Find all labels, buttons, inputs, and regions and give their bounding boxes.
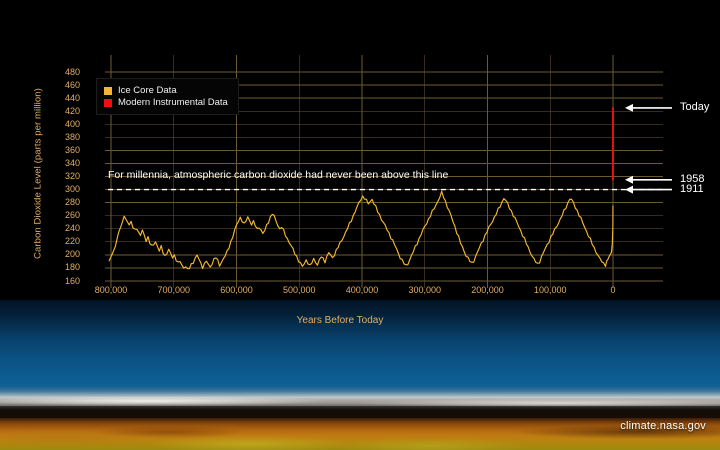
x-tick-0: 0 bbox=[610, 286, 615, 295]
data-series bbox=[109, 108, 613, 269]
legend-swatch-ice-core bbox=[104, 87, 112, 95]
x-tick-100000: 100,000 bbox=[534, 286, 567, 295]
legend-label-ice-core: Ice Core Data bbox=[118, 85, 177, 96]
nasa-watermark: climate.nasa.gov bbox=[620, 420, 706, 432]
y-tick-300: 300 bbox=[46, 185, 80, 194]
chart-legend: Ice Core Data Modern Instrumental Data bbox=[96, 78, 239, 115]
x-tick-700000: 700,000 bbox=[157, 286, 190, 295]
y-tick-420: 420 bbox=[46, 107, 80, 116]
marker-label-today: Today bbox=[680, 102, 709, 113]
y-tick-340: 340 bbox=[46, 159, 80, 168]
x-tick-300000: 300,000 bbox=[408, 286, 441, 295]
y-tick-160: 160 bbox=[46, 277, 80, 286]
chart-screenshot: Carbon Dioxide Level (parts per million)… bbox=[0, 0, 720, 450]
y-axis-title: Carbon Dioxide Level (parts per million) bbox=[33, 74, 44, 274]
y-tick-440: 440 bbox=[46, 94, 80, 103]
threshold-caption: For millennia, atmospheric carbon dioxid… bbox=[108, 170, 448, 181]
y-tick-460: 460 bbox=[46, 81, 80, 90]
y-tick-360: 360 bbox=[46, 146, 80, 155]
y-tick-180: 180 bbox=[46, 263, 80, 272]
y-tick-320: 320 bbox=[46, 172, 80, 181]
y-tick-480: 480 bbox=[46, 68, 80, 77]
legend-item-modern: Modern Instrumental Data bbox=[104, 97, 228, 108]
legend-swatch-modern bbox=[104, 99, 112, 107]
y-tick-200: 200 bbox=[46, 250, 80, 259]
y-tick-240: 240 bbox=[46, 224, 80, 233]
x-tick-400000: 400,000 bbox=[346, 286, 379, 295]
x-axis-title: Years Before Today bbox=[0, 315, 720, 326]
co2-chart bbox=[0, 0, 720, 450]
marker-label-1911: 1911 bbox=[680, 184, 704, 195]
legend-label-modern: Modern Instrumental Data bbox=[118, 97, 228, 108]
y-tick-260: 260 bbox=[46, 211, 80, 220]
y-tick-380: 380 bbox=[46, 133, 80, 142]
y-tick-280: 280 bbox=[46, 198, 80, 207]
annotation-arrows bbox=[625, 104, 672, 194]
y-tick-400: 400 bbox=[46, 120, 80, 129]
y-tick-220: 220 bbox=[46, 237, 80, 246]
x-tick-600000: 600,000 bbox=[220, 286, 253, 295]
x-tick-200000: 200,000 bbox=[471, 286, 504, 295]
y-axis-ticks: 1601802002202402602803003203403603804004… bbox=[46, 0, 80, 450]
x-tick-800000: 800,000 bbox=[95, 286, 128, 295]
x-axis-title-text: Years Before Today bbox=[297, 315, 384, 326]
x-tick-500000: 500,000 bbox=[283, 286, 316, 295]
legend-item-ice-core: Ice Core Data bbox=[104, 85, 228, 96]
